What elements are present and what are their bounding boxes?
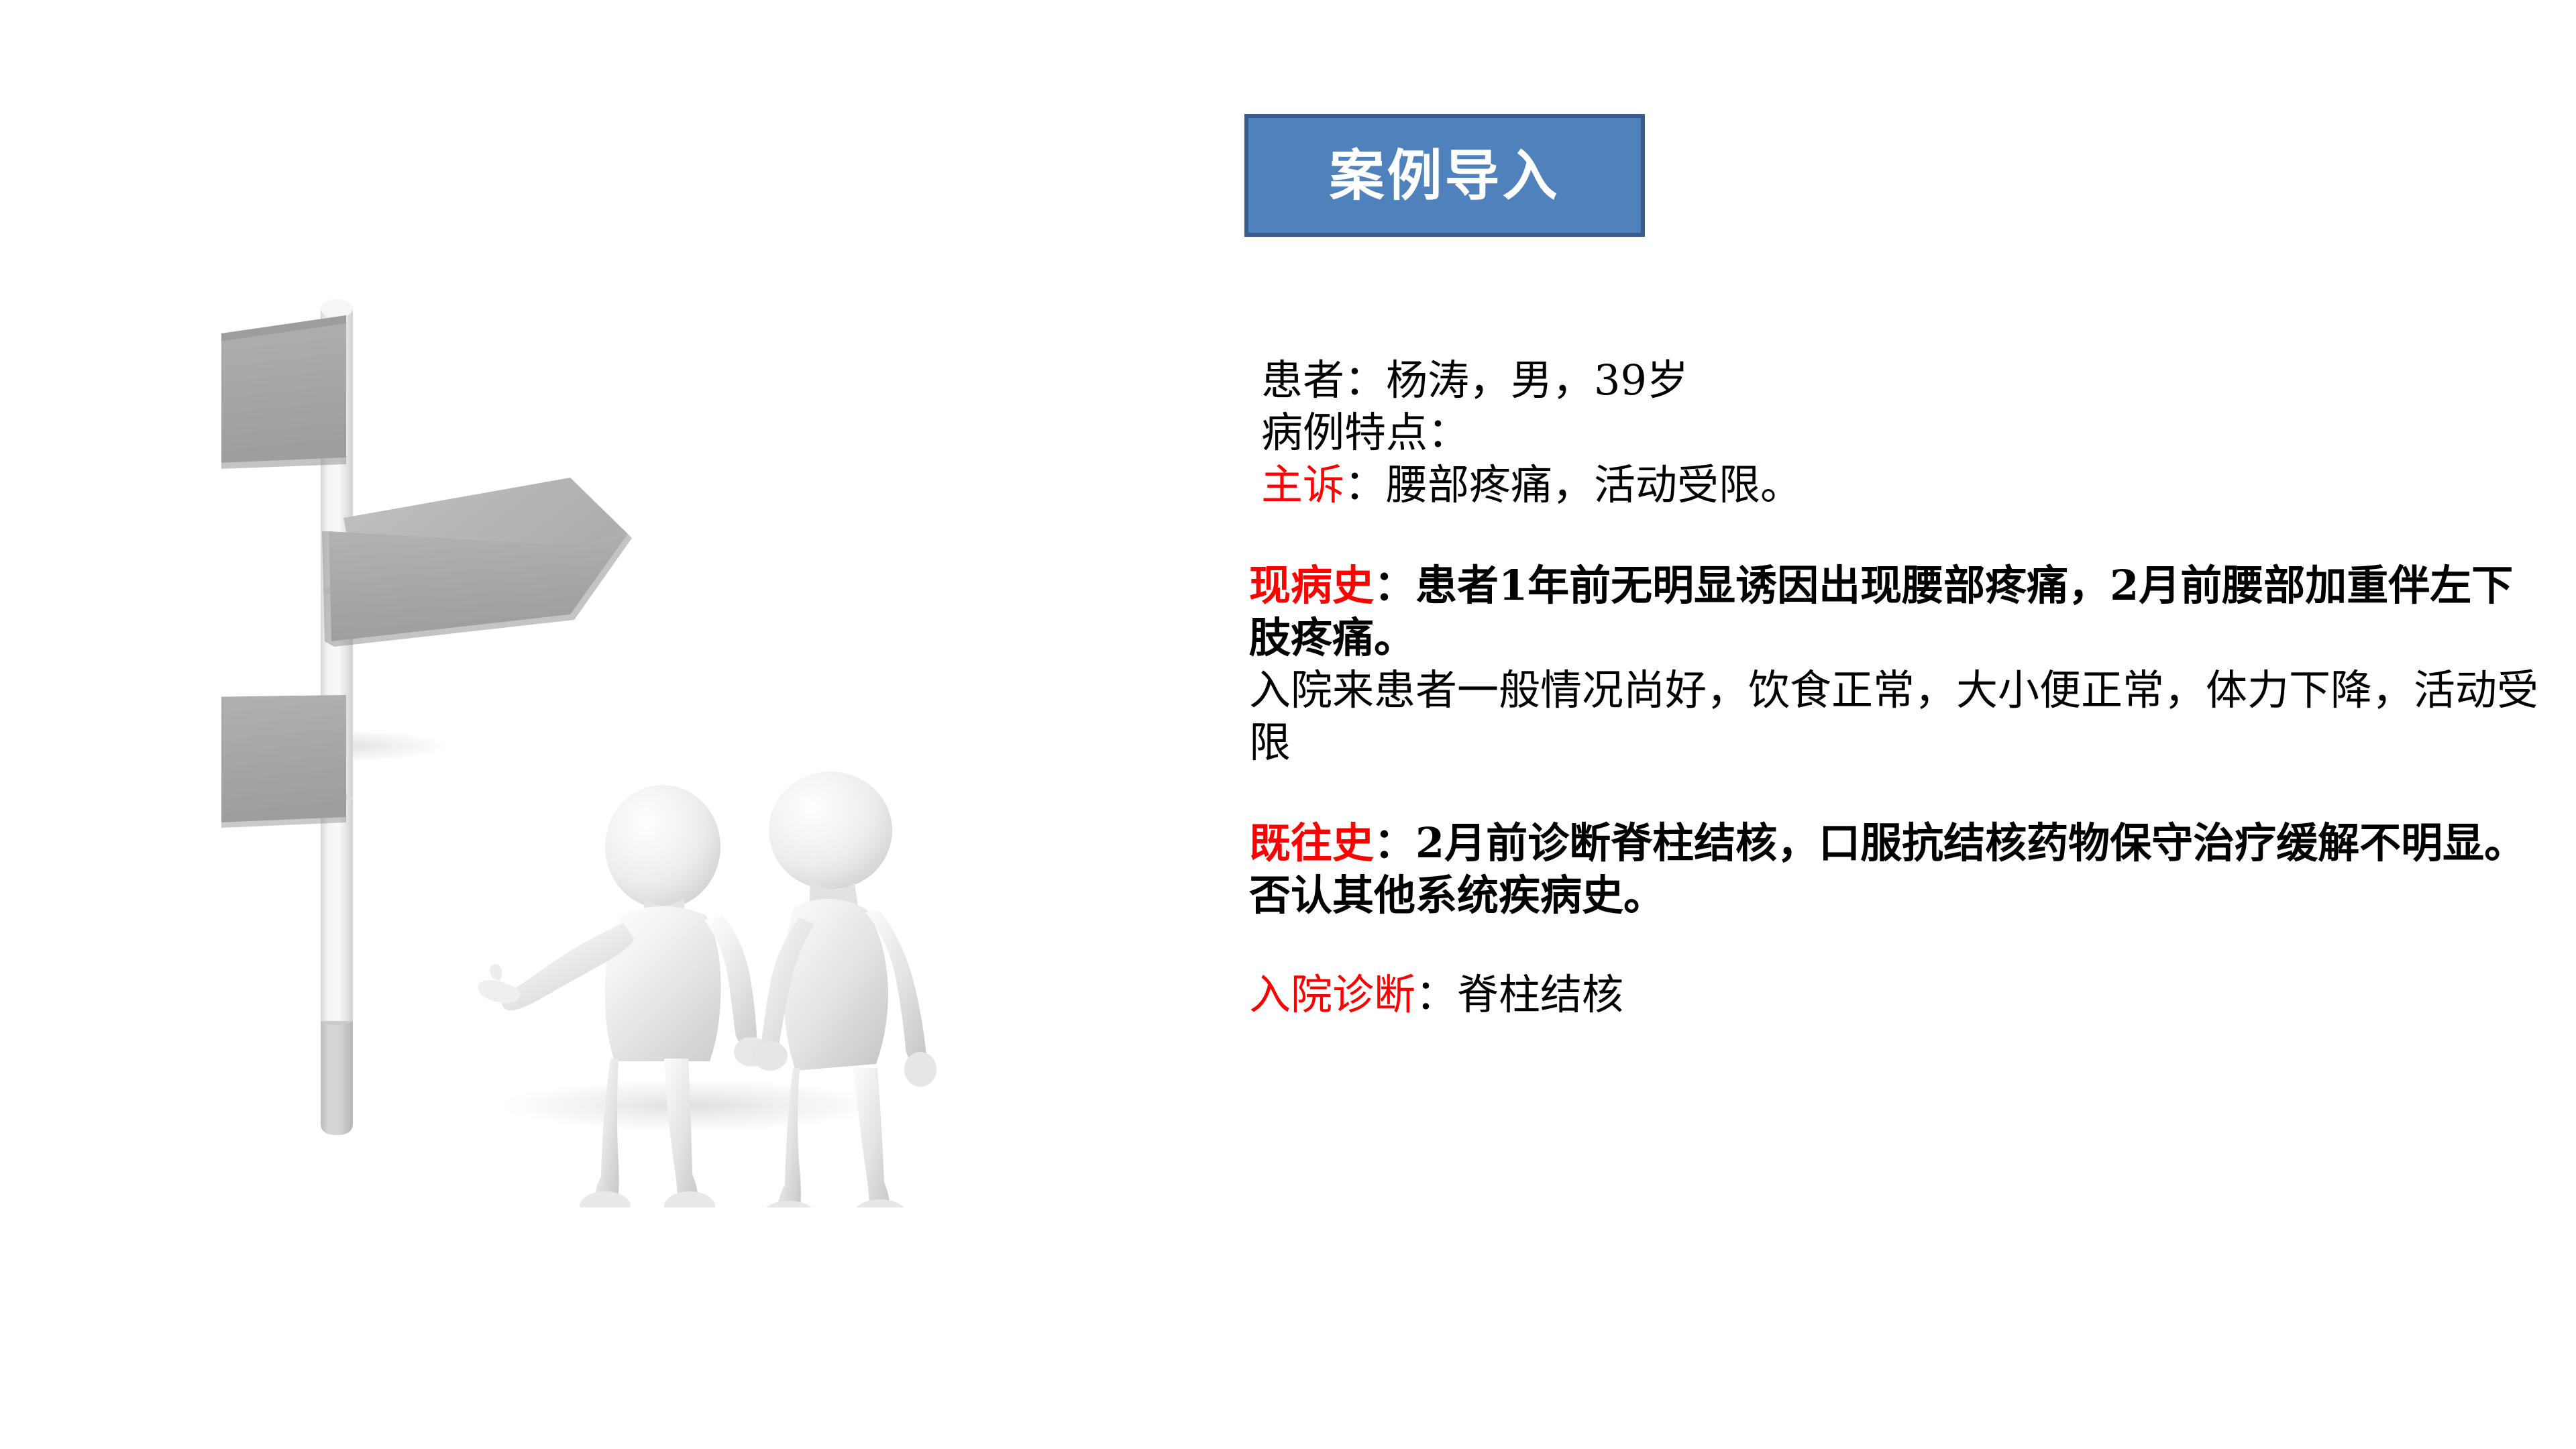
sign-arrow-middle [322, 478, 632, 647]
past-history-label: 既往史 [1249, 818, 1374, 867]
figure-right-walking [753, 771, 936, 1207]
slide-canvas: 案例导入 [0, 0, 2576, 1449]
present-illness-body: ：患者1年前无明显诱因出现腰部疼痛，2月前腰部加重伴左下肢疼痛。 [1249, 561, 2513, 662]
chief-complaint-label: 主诉 [1261, 460, 1344, 509]
present-illness-line: 现病史：患者1年前无明显诱因出现腰部疼痛，2月前腰部加重伴左下肢疼痛。 [1249, 559, 2551, 664]
present-illness-label: 现病史 [1249, 561, 1374, 610]
past-history-body: ：2月前诊断脊柱结核，口服抗结核药物保守治疗缓解不明显。否认其他系统疾病史。 [1249, 818, 2526, 920]
past-history-line: 既往史：2月前诊断脊柱结核，口服抗结核药物保守治疗缓解不明显。否认其他系统疾病史… [1249, 817, 2551, 922]
patient-line-text: 患者：杨涛，男，39岁 [1261, 356, 1688, 405]
page-title: 案例导入 [1329, 148, 1560, 203]
case-features-text: 病例特点： [1261, 408, 1469, 457]
section-title-box: 案例导入 [1244, 114, 1645, 237]
case-description: 患者：杨涛，男，39岁 病例特点： 主诉：腰部疼痛，活动受限。 现病史：患者1年… [1249, 354, 2551, 1021]
case-features-line: 病例特点： [1261, 407, 2551, 459]
chief-complaint-body: ：腰部疼痛，活动受限。 [1344, 460, 1802, 509]
admission-diagnosis-line: 入院诊断：脊柱结核 [1249, 969, 2551, 1021]
admission-diagnosis-body: ：脊柱结核 [1415, 970, 1623, 1019]
sign-arrow-bottom [221, 695, 346, 830]
sign-arrow-top [221, 315, 346, 472]
admission-course-body: 入院来患者一般情况尚好，饮食正常，大小便正常，体力下降，活动受限 [1249, 665, 2538, 767]
patient-line: 患者：杨涛，男，39岁 [1261, 354, 2551, 407]
admission-course-line: 入院来患者一般情况尚好，饮食正常，大小便正常，体力下降，活动受限 [1249, 664, 2551, 769]
figure-left-gesturing [478, 785, 769, 1207]
chief-complaint-line: 主诉：腰部疼痛，活动受限。 [1261, 459, 2551, 511]
admission-diagnosis-label: 入院诊断 [1249, 970, 1415, 1019]
signpost-illustration [221, 268, 1161, 1207]
